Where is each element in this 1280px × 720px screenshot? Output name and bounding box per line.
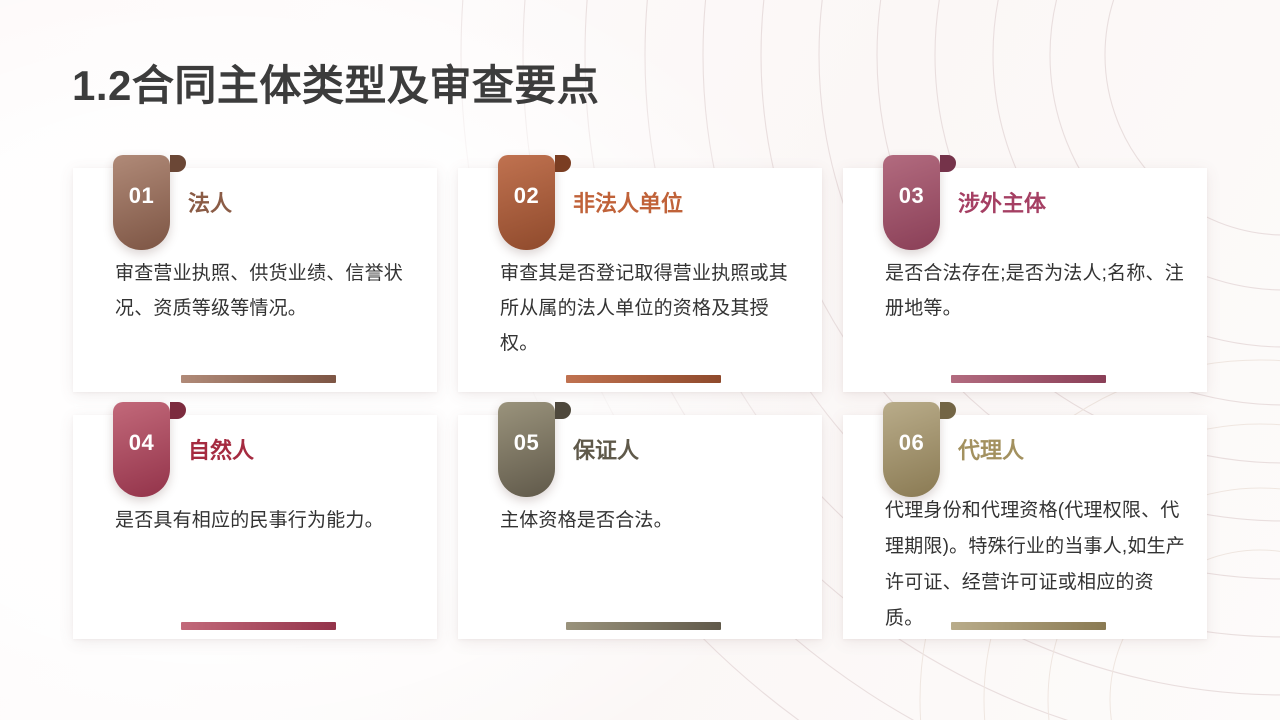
card-body: 是否具有相应的民事行为能力。 bbox=[115, 503, 415, 538]
badge-fold-icon bbox=[170, 155, 186, 172]
badge-number: 02 bbox=[498, 183, 555, 209]
card-06[interactable]: 06 代理人 代理身份和代理资格(代理权限、代理期限)。特殊行业的当事人,如生产… bbox=[843, 415, 1207, 639]
card-02[interactable]: 02 非法人单位 审查其是否登记取得营业执照或其所从属的法人单位的资格及其授权。 bbox=[458, 168, 822, 392]
badge-number: 06 bbox=[883, 430, 940, 456]
card-body: 审查其是否登记取得营业执照或其所从属的法人单位的资格及其授权。 bbox=[500, 256, 800, 361]
badge-number: 05 bbox=[498, 430, 555, 456]
card-underbar bbox=[181, 375, 336, 383]
badge-fold-icon bbox=[555, 155, 571, 172]
card-body: 是否合法存在;是否为法人;名称、注册地等。 bbox=[885, 256, 1185, 326]
badge-05: 05 bbox=[498, 402, 555, 497]
card-underbar bbox=[951, 375, 1106, 383]
card-title: 涉外主体 bbox=[958, 186, 1046, 218]
page-title: 1.2合同主体类型及审查要点 bbox=[72, 52, 599, 113]
card-body: 审查营业执照、供货业绩、信誉状况、资质等级等情况。 bbox=[115, 256, 415, 326]
card-underbar bbox=[566, 375, 721, 383]
badge-number: 01 bbox=[113, 183, 170, 209]
card-04[interactable]: 04 自然人 是否具有相应的民事行为能力。 bbox=[73, 415, 437, 639]
card-title: 法人 bbox=[188, 186, 232, 218]
slide-canvas: 1.2合同主体类型及审查要点 01 法人 审查营业执照、供货业绩、信誉状况、资质… bbox=[0, 0, 1280, 720]
card-05[interactable]: 05 保证人 主体资格是否合法。 bbox=[458, 415, 822, 639]
card-underbar bbox=[566, 622, 721, 630]
card-body: 主体资格是否合法。 bbox=[500, 503, 800, 538]
card-title: 保证人 bbox=[573, 433, 639, 465]
card-body: 代理身份和代理资格(代理权限、代理期限)。特殊行业的当事人,如生产许可证、经营许… bbox=[885, 493, 1185, 637]
badge-01: 01 bbox=[113, 155, 170, 250]
badge-03: 03 bbox=[883, 155, 940, 250]
card-03[interactable]: 03 涉外主体 是否合法存在;是否为法人;名称、注册地等。 bbox=[843, 168, 1207, 392]
badge-02: 02 bbox=[498, 155, 555, 250]
card-underbar bbox=[181, 622, 336, 630]
card-01[interactable]: 01 法人 审查营业执照、供货业绩、信誉状况、资质等级等情况。 bbox=[73, 168, 437, 392]
card-title: 非法人单位 bbox=[573, 186, 683, 218]
badge-06: 06 bbox=[883, 402, 940, 497]
badge-fold-icon bbox=[170, 402, 186, 419]
badge-fold-icon bbox=[940, 155, 956, 172]
card-title: 自然人 bbox=[188, 433, 254, 465]
card-title: 代理人 bbox=[958, 433, 1024, 465]
badge-fold-icon bbox=[940, 402, 956, 419]
badge-fold-icon bbox=[555, 402, 571, 419]
badge-04: 04 bbox=[113, 402, 170, 497]
card-underbar bbox=[951, 622, 1106, 630]
card-grid: 01 法人 审查营业执照、供货业绩、信誉状况、资质等级等情况。 02 非法人单位… bbox=[73, 168, 1208, 639]
badge-number: 03 bbox=[883, 183, 940, 209]
badge-number: 04 bbox=[113, 430, 170, 456]
